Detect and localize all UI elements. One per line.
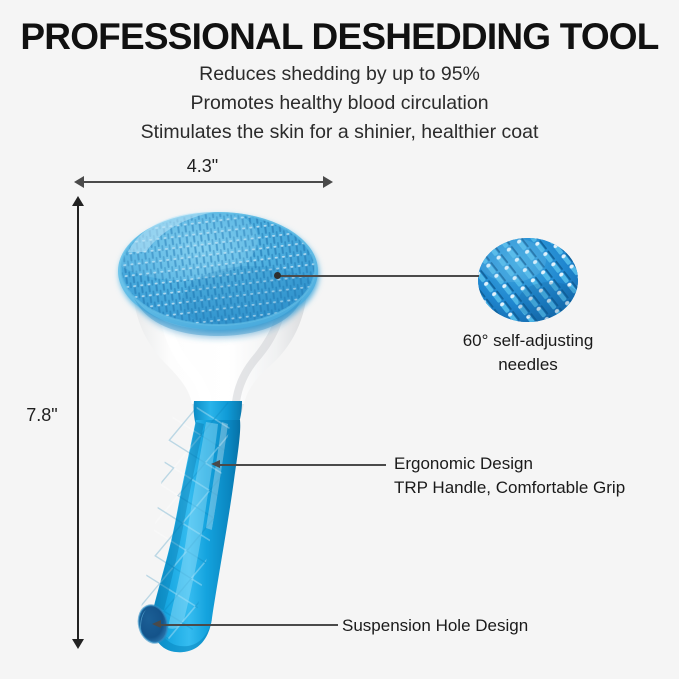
brush-handle: [102, 401, 263, 652]
handle-leader-line: [218, 464, 386, 466]
callout-handle: Ergonomic Design TRP Handle, Comfortable…: [394, 452, 625, 500]
product-infographic: PROFESSIONAL DESHEDDING TOOL Reduces she…: [0, 0, 679, 679]
callout-hole: Suspension Hole Design: [342, 614, 528, 638]
needle-detail-circle: [478, 238, 578, 322]
callout-needles-line-2: needles: [428, 353, 628, 377]
callout-hole-line-1: Suspension Hole Design: [342, 614, 528, 638]
brush-head: [102, 192, 335, 347]
needles-leader-line: [279, 275, 479, 277]
callout-needles: 60° self-adjusting needles: [428, 329, 628, 377]
callout-needles-line-1: 60° self-adjusting: [428, 329, 628, 353]
hole-leader-line: [160, 624, 338, 626]
hole-leader-arrow-icon: [152, 620, 161, 628]
needles-leader-anchor: [274, 272, 281, 279]
callout-handle-line-2: TRP Handle, Comfortable Grip: [394, 476, 625, 500]
callout-handle-line-1: Ergonomic Design: [394, 452, 625, 476]
handle-leader-arrow-icon: [211, 460, 220, 468]
